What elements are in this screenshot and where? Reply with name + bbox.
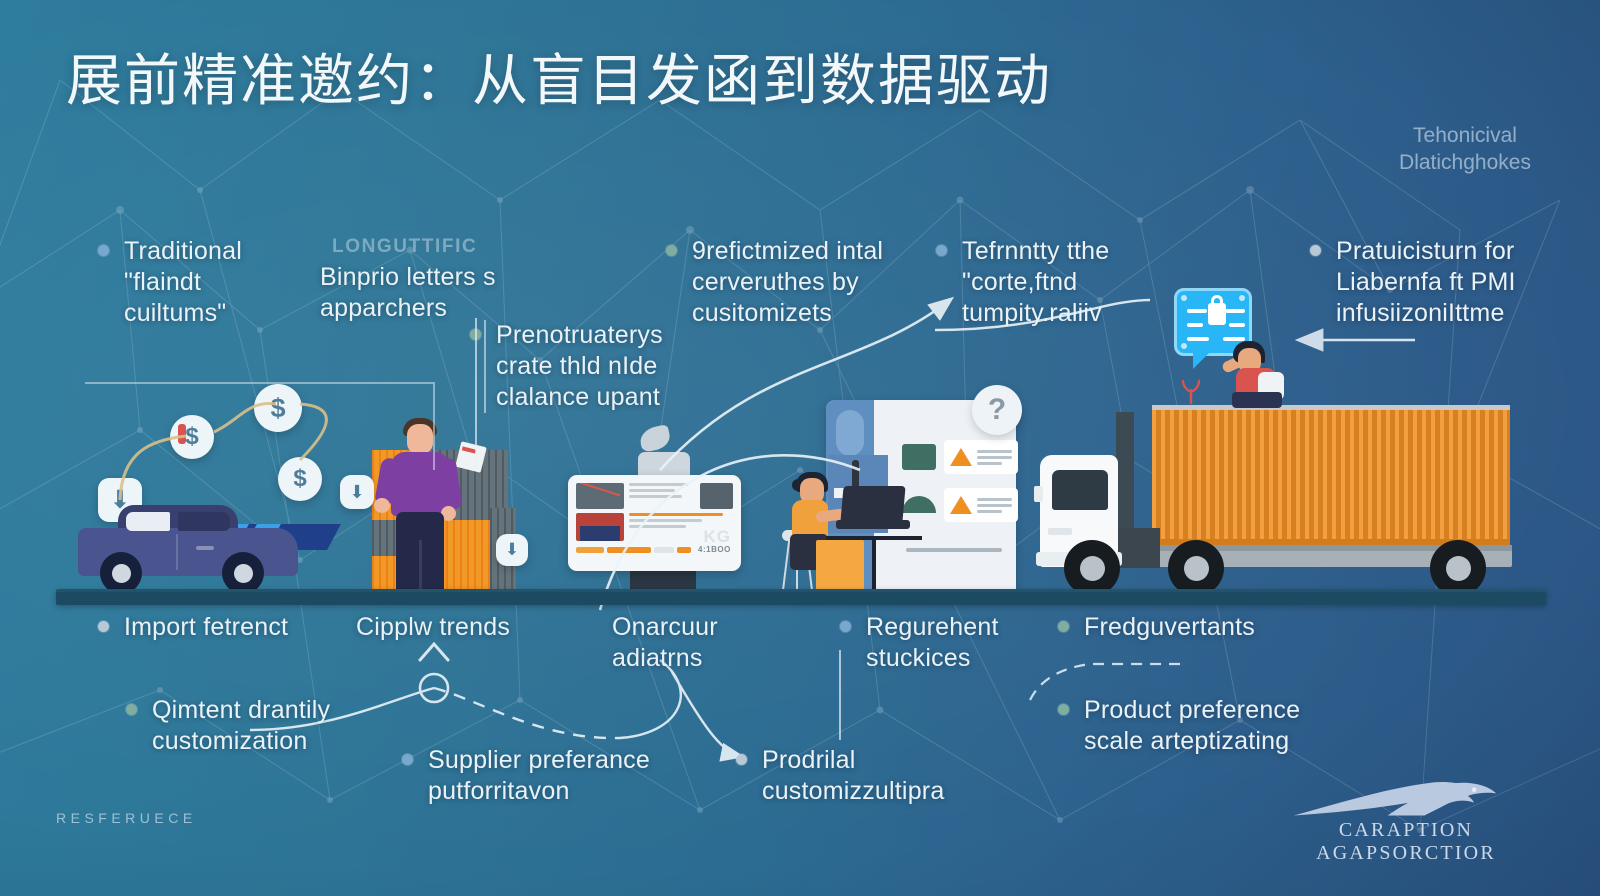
document-footer-line: [906, 548, 1002, 552]
shipping-container: [1152, 405, 1510, 545]
ghost-label: LONGUTTIFIC: [332, 236, 477, 258]
note-line: Binprio letters s: [320, 262, 540, 293]
note-pratuicisturn: Pratuicisturn for Liabernfa ft PMI infus…: [1336, 236, 1566, 329]
note-line: tumpity.raliiv: [962, 298, 1162, 329]
document-sidebar-pill: [836, 410, 864, 456]
bullet-icon: [666, 245, 677, 256]
note-line: customization: [152, 726, 382, 757]
note-prodnlal-custom: Prodrilal customizzultipra: [762, 745, 982, 807]
bullet-icon: [98, 621, 109, 632]
chart-thumbnail: [576, 483, 624, 509]
note-tefrnntty: Tefrnntty tthe "corte,ftnd tumpity.ralii…: [962, 236, 1162, 329]
coin-icon: $: [170, 415, 214, 459]
person-hand: [374, 498, 390, 513]
desk-leg: [872, 540, 876, 594]
truck-wheel: [1064, 540, 1120, 596]
note-line: Tefrnntty tthe: [962, 236, 1162, 267]
bullet-icon: [1058, 621, 1069, 632]
warning-triangle-icon: [950, 496, 972, 514]
car-window: [178, 512, 230, 531]
laptop-screen: [840, 486, 905, 522]
note-line: stuckices: [866, 643, 1056, 674]
truck-window: [1052, 470, 1108, 510]
coin-icon: $: [254, 384, 302, 432]
note-cipplw-trends: Cipplw trends: [356, 612, 556, 643]
logo-mark-icon: [1256, 775, 1556, 819]
note-fredguvertants: Fredguvertants: [1084, 612, 1304, 643]
brand-logo: CARAPTION AGAPSORCTIOR: [1256, 775, 1556, 865]
note-product-preference: Product preference scale arteptizating: [1084, 695, 1344, 757]
corner-note: Tehonicival Dlatichghokes: [1360, 122, 1570, 177]
logo-text: CARAPTION AGAPSORCTIOR: [1256, 819, 1556, 865]
page-title: 展前精准邀约：从盲目发函到数据驱动: [66, 48, 1052, 114]
note-content-quantily: Qimtent drantily customization: [152, 695, 382, 757]
lock-body-icon: [1208, 303, 1226, 325]
note-line: Prenotruaterys: [496, 320, 684, 351]
note-line: Import fetrenct: [124, 612, 354, 643]
note-line: cerveruthes by: [692, 267, 907, 298]
truck-chassis: [1118, 528, 1160, 568]
download-icon: ⬇: [496, 534, 528, 566]
note-line: Pratuicisturn for: [1336, 236, 1566, 267]
note-line: Fredguvertants: [1084, 612, 1304, 643]
car-wheel: [100, 552, 142, 594]
note-line: cusitomizets: [692, 298, 907, 329]
bullet-icon: [470, 329, 481, 340]
note-line: customizzultipra: [762, 776, 982, 807]
corner-note-line1: Tehonicival: [1360, 122, 1570, 149]
antenna-icon: [178, 424, 186, 444]
person-head: [407, 424, 433, 454]
bullet-icon: [736, 754, 747, 765]
corner-note-line2: Dlatichghokes: [1360, 149, 1570, 176]
photo-thumbnail: [576, 513, 624, 541]
laptop-base: [836, 520, 910, 529]
note-line: Prodrilal: [762, 745, 982, 776]
mini-green-card: [902, 444, 936, 470]
note-regurehent-stuckices: Regurehent stuckices: [866, 612, 1056, 674]
bullet-icon: [402, 754, 413, 765]
timeline-bar: [56, 592, 1546, 605]
bullet-icon: [840, 621, 851, 632]
dashboard-code: KG: [704, 527, 732, 547]
note-traditional-approach: Traditional "flaindt cuiltums": [124, 236, 334, 329]
bullet-icon: [98, 245, 109, 256]
monitor-screen: 4:1BOO KG: [568, 475, 741, 571]
note-line: Cipplw trends: [356, 612, 556, 643]
truck-wheel: [1430, 540, 1486, 596]
note-line: "corte,ftnd: [962, 267, 1162, 298]
question-mark-icon: ?: [972, 385, 1022, 435]
warning-triangle-icon: [950, 448, 972, 466]
bullet-icon: [126, 704, 137, 715]
note-line: Onarcuur: [612, 612, 792, 643]
note-prenotruaterys: Prenotruaterys crate thld nIde clalance …: [484, 320, 684, 413]
note-line: Regurehent: [866, 612, 1056, 643]
bullet-icon: [936, 245, 947, 256]
car-door-line: [176, 534, 178, 570]
text-lines: [629, 483, 695, 509]
note-line: Supplier preferance: [428, 745, 688, 776]
note-line: putforritavon: [428, 776, 688, 807]
note-line: "flaindt: [124, 267, 334, 298]
car-wheel: [222, 552, 264, 594]
person-leg-split: [419, 540, 422, 594]
note-supplier-preference: Supplier preferance putforritavon: [428, 745, 688, 807]
coin-icon: $: [278, 457, 322, 501]
reference-label: RESFERUECE: [56, 810, 197, 826]
note-line: adiatrns: [612, 643, 792, 674]
truck-mirror: [1034, 486, 1043, 502]
note-onarcuur-adiatrns: Onarcuur adiatrns: [612, 612, 792, 674]
note-orefictmized: 9refictmized intal cerveruthes by cusito…: [692, 236, 907, 329]
note-line: clalance upant: [496, 382, 684, 413]
alert-card: [944, 488, 1018, 522]
note-line: infusiizoniIttme: [1336, 298, 1566, 329]
truck-grill: [1048, 528, 1072, 535]
truck-back-panel: [1116, 412, 1134, 542]
note-blind-letters: Binprio letters s apparchers: [320, 262, 540, 324]
note-line: cuiltums": [124, 298, 334, 329]
car-window: [126, 512, 170, 531]
truck-wheel: [1168, 540, 1224, 596]
note-line: Qimtent drantily: [152, 695, 382, 726]
note-line: crate thld nIde: [496, 351, 684, 382]
bullet-icon: [1310, 245, 1321, 256]
alert-card: [944, 440, 1018, 474]
infographic-canvas: 展前精准邀约：从盲目发函到数据驱动 Tehonicival Dlatichgho…: [0, 0, 1600, 896]
dashboard-row: [576, 483, 733, 509]
person-legs: [1232, 392, 1282, 408]
trend-line: [580, 483, 620, 496]
note-line: Traditional: [124, 236, 334, 267]
car-handle: [196, 546, 214, 550]
note-line: 9refictmized intal: [692, 236, 907, 267]
red-plant-icon: [1178, 378, 1204, 404]
note-line: Liabernfa ft PMI: [1336, 267, 1566, 298]
note-import-fetrenct: Import fetrenct: [124, 612, 354, 643]
bullet-icon: [1058, 704, 1069, 715]
download-icon: ⬇: [340, 475, 374, 509]
note-line: scale arteptizating: [1084, 726, 1344, 757]
image-thumbnail: [700, 483, 733, 509]
orange-box: [816, 540, 864, 592]
note-line: Product preference: [1084, 695, 1344, 726]
